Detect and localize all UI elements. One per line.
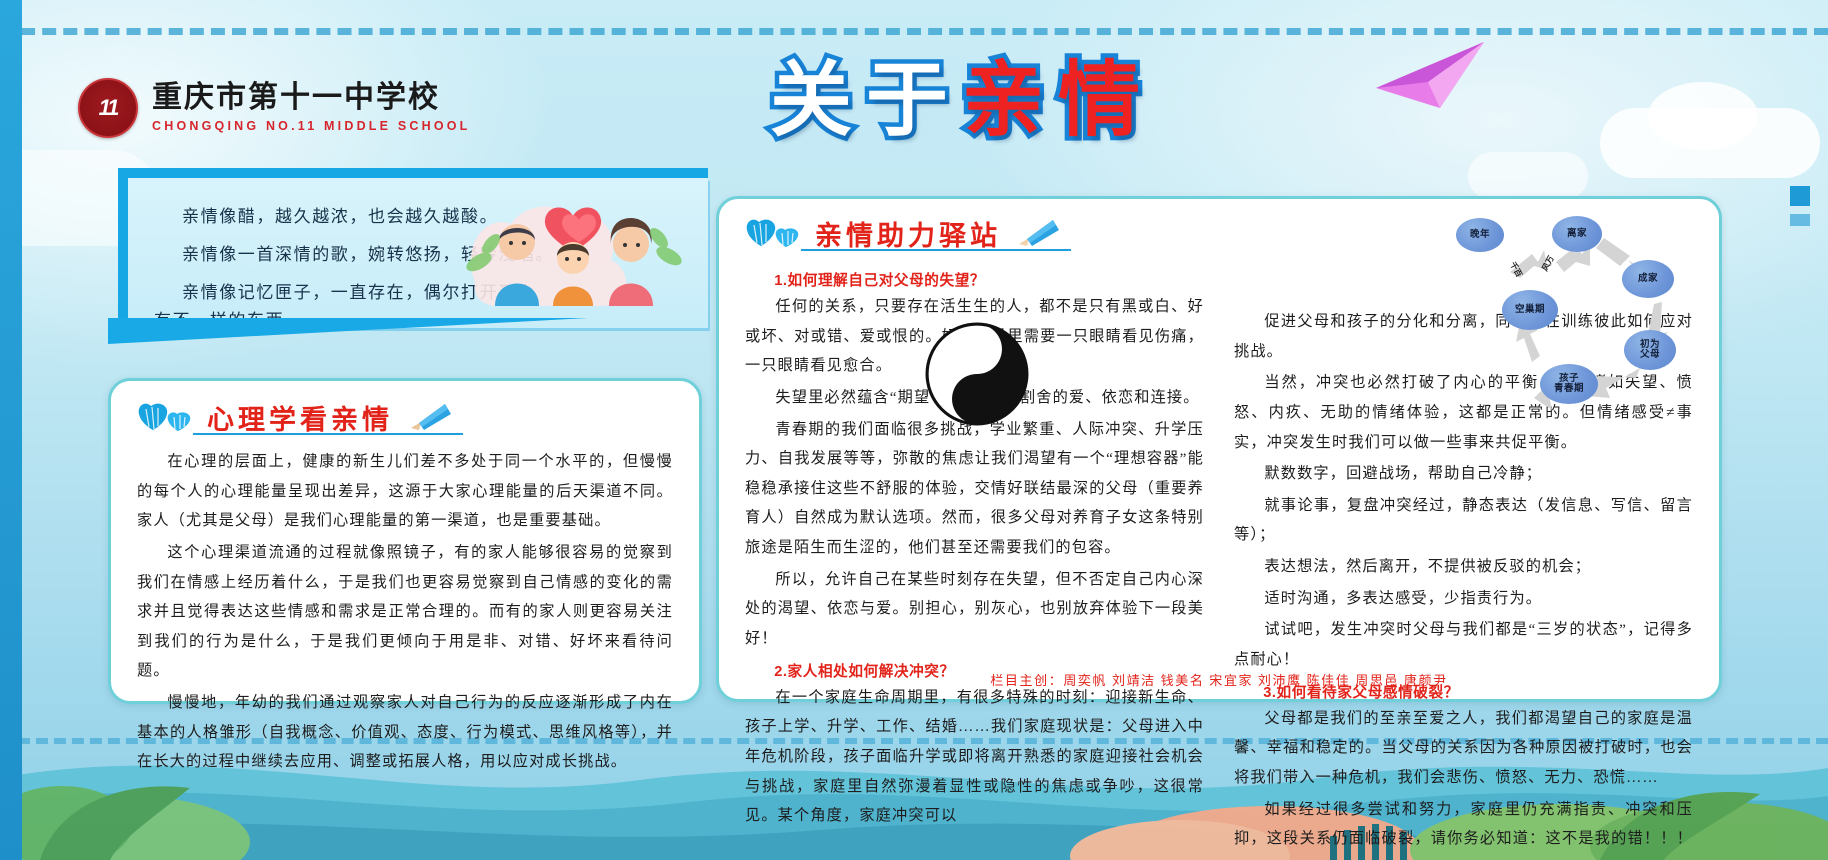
title-char-3: 亲	[962, 60, 1044, 142]
school-name-en: CHONGQING NO.11 MIDDLE SCHOOL	[152, 120, 471, 133]
lifecycle-node-2: 离家	[1552, 216, 1602, 252]
credits-line: 栏目主创：周奕帆 刘靖洁 钱美名 宋宜家 刘沛鹰 陈佳佳 周思邑 唐颜尹	[719, 670, 1719, 689]
page-title: 关 于 亲 情	[770, 60, 1140, 142]
school-branding: 11 重庆市第十一中学校 CHONGQING NO.11 MIDDLE SCHO…	[78, 78, 471, 138]
lifecycle-node-1: 晚年	[1456, 218, 1504, 252]
corner-square-decoration-2	[1790, 214, 1810, 226]
q2-tip-1: 默数数字，回避战场，帮助自己冷静；	[1234, 459, 1693, 489]
q2-tip-3: 表达想法，然后离开，不提供被反驳的机会；	[1234, 552, 1693, 582]
cloud-decoration-right-top	[1648, 82, 1758, 150]
psychology-paragraph-1: 在心理的层面上，健康的新生儿们差不多处于同一个水平的，但慢慢的每个人的心理能量呈…	[137, 447, 673, 536]
family-lifecycle-diagram: 晚年 离家 成家 初为 父母 孩子 青春期 空巢期 千百 风万	[1448, 216, 1684, 416]
psychology-paragraph-3: 慢慢地，年幼的我们通过观察家人对自己行为的反应逐渐形成了内在基本的人格雏形（自我…	[137, 688, 673, 777]
q1-paragraph-3: 青春期的我们面临很多挑战，学业繁重、人际冲突、升学压力、自我发展等等，弥散的焦虑…	[745, 415, 1204, 563]
q3-paragraph-1: 父母都是我们的至亲至爱之人，我们都渴望自己的家庭是温馨、幸福和稳定的。当父母的关…	[1234, 704, 1693, 793]
school-logo-icon: 11	[78, 78, 138, 138]
pencil-icon	[405, 402, 453, 432]
psychology-body: 在心理的层面上，健康的新生儿们差不多处于同一个水平的，但慢慢的每个人的心理能量呈…	[137, 447, 673, 777]
lifecycle-node-4: 初为 父母	[1624, 330, 1676, 370]
heart-scribble-icon	[137, 400, 197, 434]
station-heading-underline	[801, 249, 1071, 252]
title-char-4: 情	[1058, 60, 1140, 142]
lifecycle-node-3: 成家	[1622, 260, 1674, 298]
q2-tip-2: 就事论事，复盘冲突经过，静态表达（发信息、写信、留言等）；	[1234, 491, 1693, 550]
pencil-icon	[1013, 218, 1061, 248]
dashed-line-top	[0, 28, 1828, 35]
psychology-card: 心理学看亲情 在心理的层面上，健康的新生儿们差不多处于同一个水平的，但慢慢的每个…	[108, 378, 702, 704]
question-1-heading: 1.如何理解自己对父母的失望？	[745, 269, 1204, 290]
q1-paragraph-4: 所以，允许自己在某些时刻存在失望，但不否定自己内心深处的渴望、依恋与爱。别担心，…	[745, 565, 1204, 654]
heart-scribble-icon	[745, 216, 805, 250]
psychology-paragraph-2: 这个心理渠道流通的过程就像照镜子，有的家人能够很容易的觉察到我们在情感上经历着什…	[137, 538, 673, 686]
q3-paragraph-2: 如果经过很多尝试和努力，家庭里仍充满指责、冲突和压抑，这段关系仍面临破裂，请你务…	[1234, 795, 1693, 860]
quote-panel-accent-wedge	[108, 318, 588, 344]
school-name-group: 重庆市第十一中学校 CHONGQING NO.11 MIDDLE SCHOOL	[152, 83, 471, 133]
psychology-heading: 心理学看亲情	[207, 398, 393, 437]
corner-square-decoration	[1790, 186, 1810, 206]
title-char-1: 关	[770, 60, 852, 142]
school-name-cn: 重庆市第十一中学校	[152, 83, 471, 113]
left-edge-bar	[0, 0, 22, 860]
psychology-heading-underline	[193, 433, 463, 436]
school-logo-text: 11	[99, 95, 118, 121]
q2-tip-4: 适时沟通，多表达感受，少指责行为。	[1234, 584, 1693, 614]
station-section-header: 亲情助力驿站	[745, 209, 1165, 257]
cloud-decoration-right-small	[1468, 152, 1588, 200]
poster-stage: 11 重庆市第十一中学校 CHONGQING NO.11 MIDDLE SCHO…	[0, 0, 1828, 860]
paper-plane-icon	[1370, 36, 1490, 114]
q2-paragraph-4: 试试吧，发生冲突时父母与我们都是“三岁的状态”，记得多点耐心！	[1234, 615, 1693, 674]
yinyang-icon	[925, 322, 1029, 426]
q2-paragraph-1: 在一个家庭生命周期里，有很多特殊的时刻：迎接新生命、孩子上学、升学、工作、结婚……	[745, 683, 1204, 831]
quote-panel-top-bar	[118, 168, 708, 178]
lifecycle-node-6: 空巢期	[1502, 290, 1558, 330]
family-illustration	[455, 186, 695, 316]
psychology-section-header: 心理学看亲情	[137, 393, 673, 441]
station-heading: 亲情助力驿站	[815, 214, 1001, 253]
lifecycle-node-5: 孩子 青春期	[1540, 364, 1598, 404]
title-char-2: 于	[866, 60, 948, 142]
